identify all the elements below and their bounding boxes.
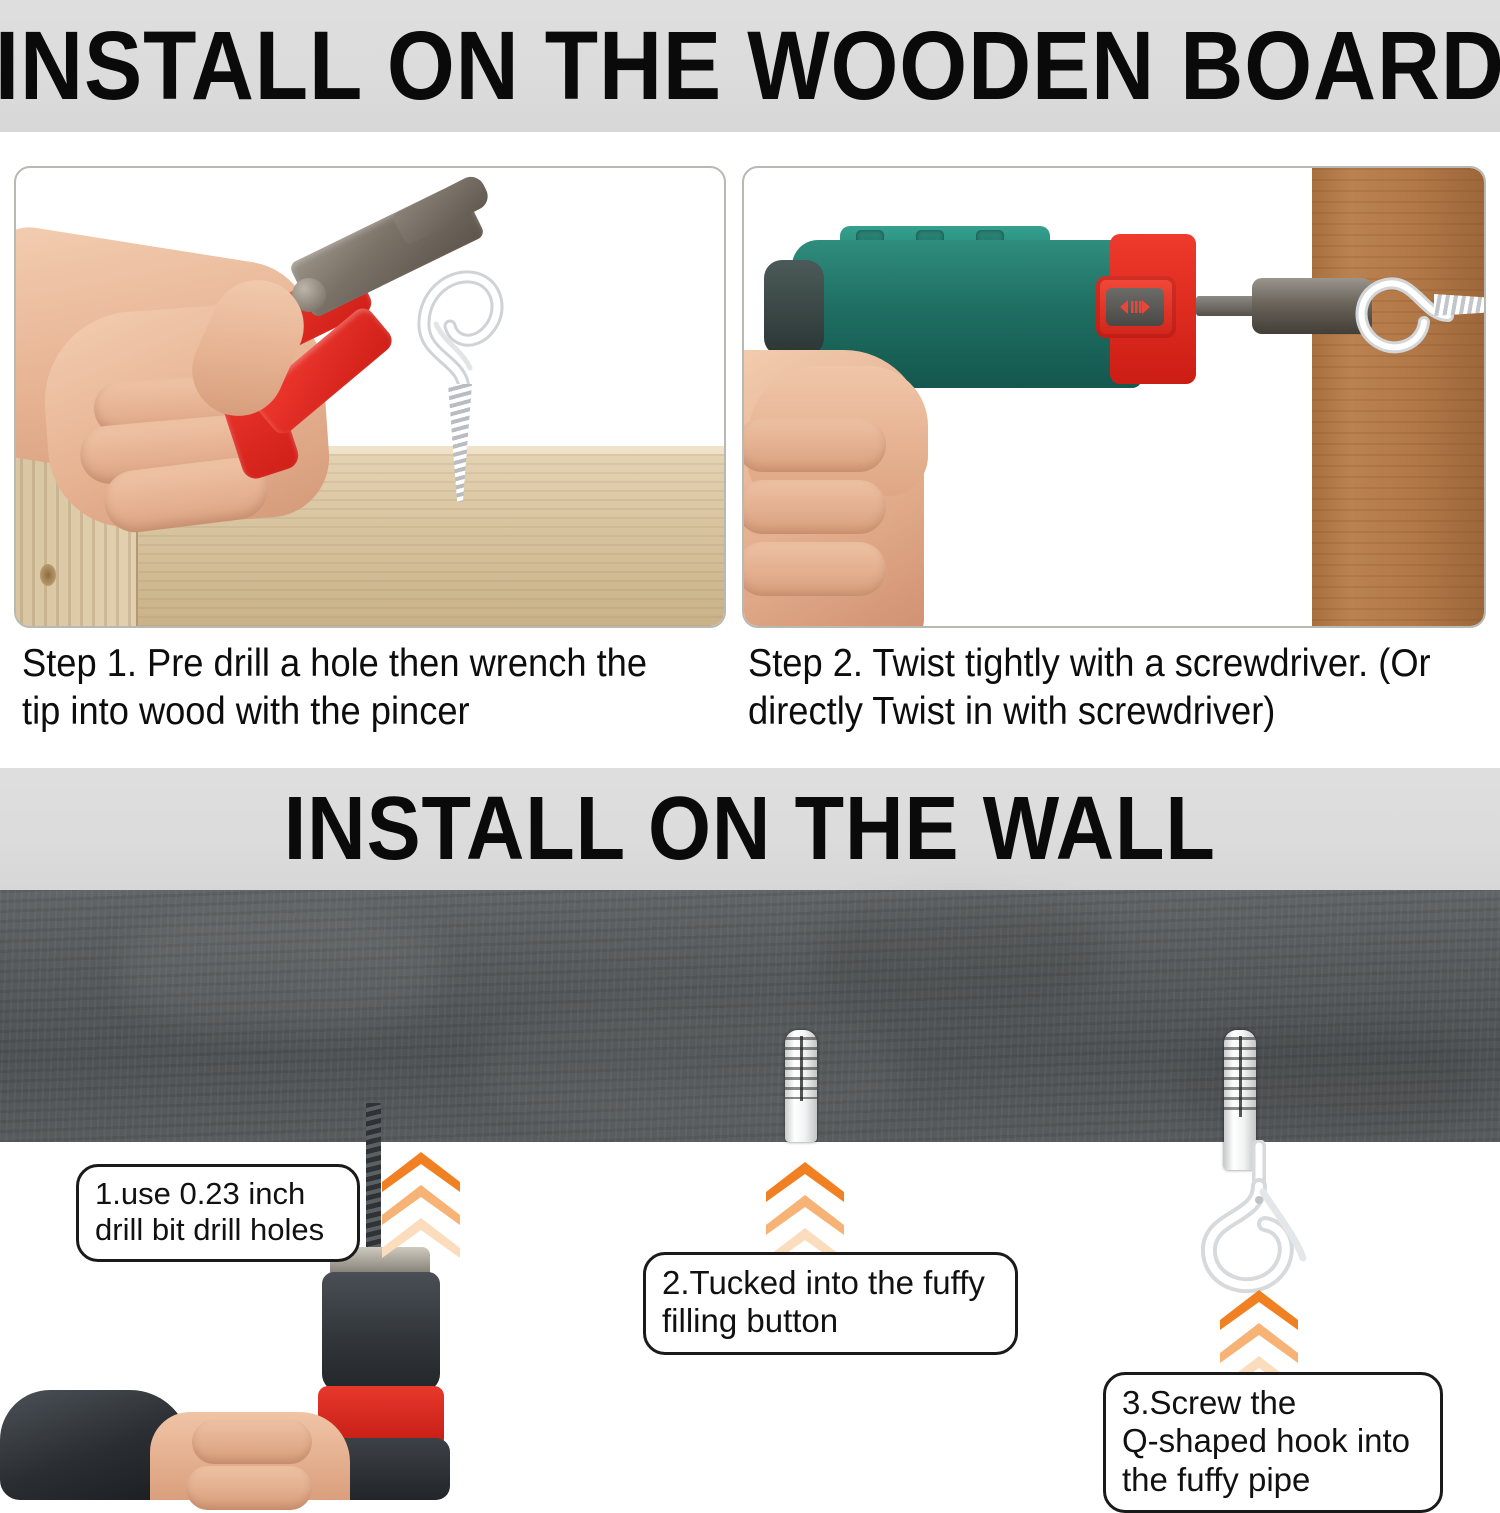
hand-finger	[742, 480, 886, 534]
wood-knot	[40, 564, 56, 586]
heading-install-on-wooden-board: INSTALL ON THE WOODEN BOARD	[0, 10, 1500, 122]
chevron-up-icon	[378, 1214, 464, 1258]
screwdriver-switch-window	[1106, 288, 1164, 326]
drill-chuck-body	[322, 1272, 440, 1392]
q-shaped-hook-icon	[1185, 1140, 1335, 1300]
hand-finger	[742, 418, 886, 472]
section-header-wooden-board: INSTALL ON THE WOODEN BOARD	[0, 0, 1500, 132]
concrete-wall	[0, 890, 1500, 1142]
heading-install-on-wall: INSTALL ON THE WALL	[284, 778, 1216, 881]
photo-panel-row	[0, 166, 1500, 628]
callout-step-3: 3.Screw the Q-shaped hook into the fuffy…	[1103, 1372, 1443, 1513]
hook-screw-thread	[1434, 294, 1486, 316]
anchor-slot	[1239, 1036, 1242, 1117]
section-header-wall: INSTALL ON THE WALL	[0, 768, 1500, 890]
q-shaped-hook-icon	[414, 264, 510, 394]
wall-texture-blotch	[120, 910, 440, 1030]
step-2-caption: Step 2. Twist tightly with a screwdriver…	[748, 640, 1436, 737]
instruction-infographic: INSTALL ON THE WOODEN BOARD	[0, 0, 1500, 1500]
hand-finger	[192, 1420, 312, 1464]
anchor-slot	[800, 1036, 803, 1101]
wall-texture-blotch	[480, 1010, 900, 1130]
screwdriver-rear-grip	[764, 260, 824, 356]
screwdriver-shaft	[1196, 296, 1258, 316]
hand-finger	[186, 1466, 312, 1510]
chevron-group-step-1	[378, 1148, 464, 1258]
callout-step-1: 1.use 0.23 inch drill bit drill holes	[76, 1164, 360, 1262]
step-1-photo	[14, 166, 726, 628]
wall-texture-blotch	[820, 900, 1100, 1010]
step-2-photo	[742, 166, 1486, 628]
wood-board	[1312, 168, 1484, 628]
wall-anchor-icon	[785, 1030, 817, 1142]
step-1-caption: Step 1. Pre drill a hole then wrench the…	[22, 640, 673, 737]
hand-finger	[742, 542, 886, 596]
callout-step-2: 2.Tucked into the fuffy filling button	[643, 1252, 1018, 1355]
direction-arrows-icon	[1108, 296, 1162, 318]
